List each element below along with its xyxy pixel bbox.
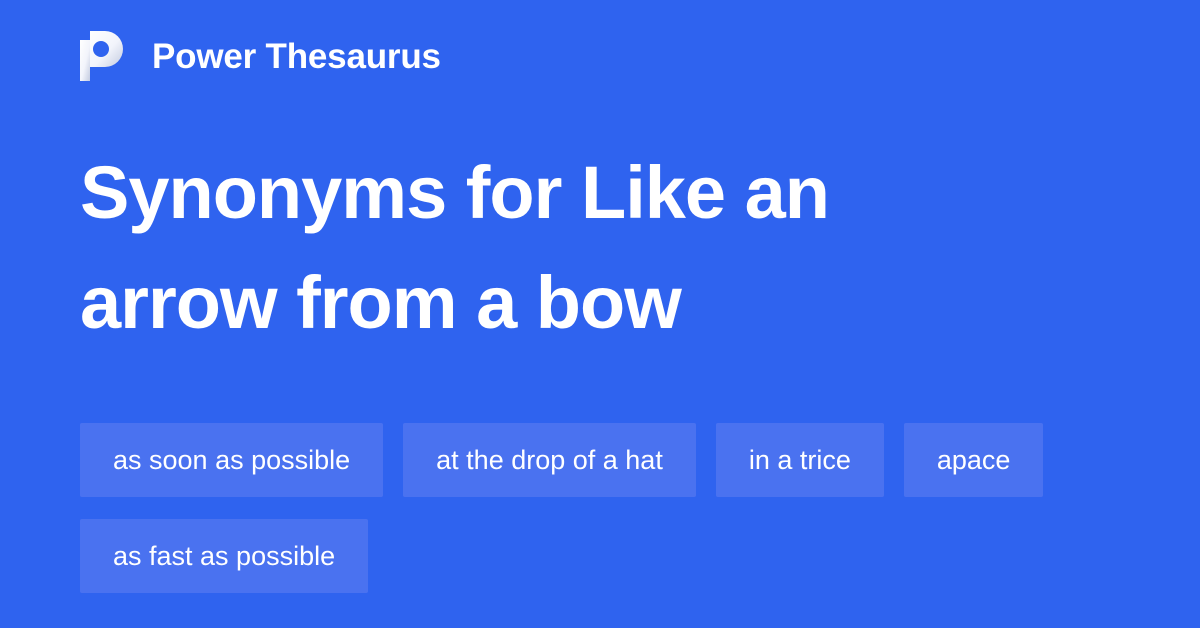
synonym-chip-list: as soon as possible at the drop of a hat… xyxy=(80,423,1120,593)
page-title-line-2: arrow from a bow xyxy=(80,248,1090,358)
synonym-chip[interactable]: as soon as possible xyxy=(80,423,383,497)
brand-header[interactable]: Power Thesaurus xyxy=(80,28,441,84)
page-title-line-1: Synonyms for Like an xyxy=(80,138,1090,248)
page-title: Synonyms for Like an arrow from a bow xyxy=(80,138,1090,357)
synonym-chip[interactable]: apace xyxy=(904,423,1044,497)
power-thesaurus-logo-icon xyxy=(80,31,130,81)
synonym-chip[interactable]: as fast as possible xyxy=(80,519,368,593)
social-card: Power Thesaurus Synonyms for Like an arr… xyxy=(0,0,1200,628)
synonym-chip[interactable]: in a trice xyxy=(716,423,884,497)
synonym-chip[interactable]: at the drop of a hat xyxy=(403,423,696,497)
brand-name: Power Thesaurus xyxy=(152,39,441,74)
